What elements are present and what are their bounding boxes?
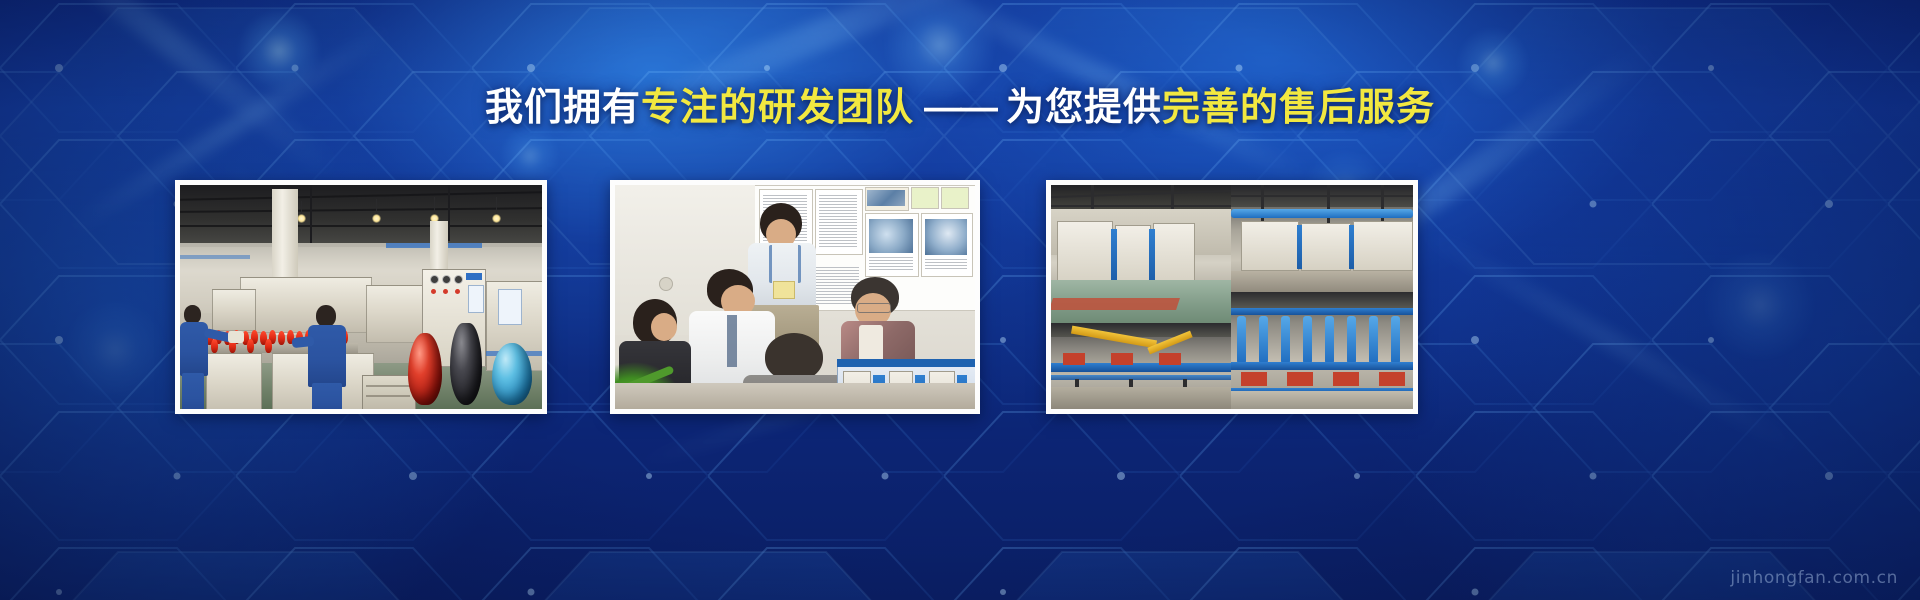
headline-segment-2: 专注的研发团队: [641, 87, 914, 129]
product-vase-inset: [406, 317, 538, 409]
banner-headline-wrap: 我们拥有专注的研发团队——为您提供完善的售后服务: [0, 84, 1920, 132]
photo-sub-coating-line: [1231, 185, 1413, 293]
photo-team-meeting: [615, 185, 975, 409]
photo-factory-line: [180, 185, 542, 409]
photo-panel-production-equipment[interactable]: [1046, 180, 1418, 414]
banner-stage: 我们拥有专注的研发团队——为您提供完善的售后服务: [0, 0, 1920, 600]
photo-panel-factory-line[interactable]: [175, 180, 547, 414]
headline-segment-4: 完善的售后服务: [1162, 87, 1435, 129]
headline-separator: ——: [914, 84, 1006, 132]
headline-segment-3: 为您提供: [1006, 87, 1162, 129]
photo-sub-spray-booths: [1231, 292, 1413, 409]
photo-panel-team-meeting[interactable]: [610, 180, 980, 414]
photo-sub-workshop: [1051, 185, 1232, 324]
photo-panel-group: [0, 180, 1920, 416]
photo-sub-conveyor: [1051, 323, 1232, 409]
site-watermark: jinhongfan.com.cn: [1730, 568, 1898, 588]
banner-headline: 我们拥有专注的研发团队——为您提供完善的售后服务: [485, 84, 1435, 132]
headline-segment-1: 我们拥有: [485, 87, 641, 129]
photo-production-equipment: [1051, 185, 1413, 409]
